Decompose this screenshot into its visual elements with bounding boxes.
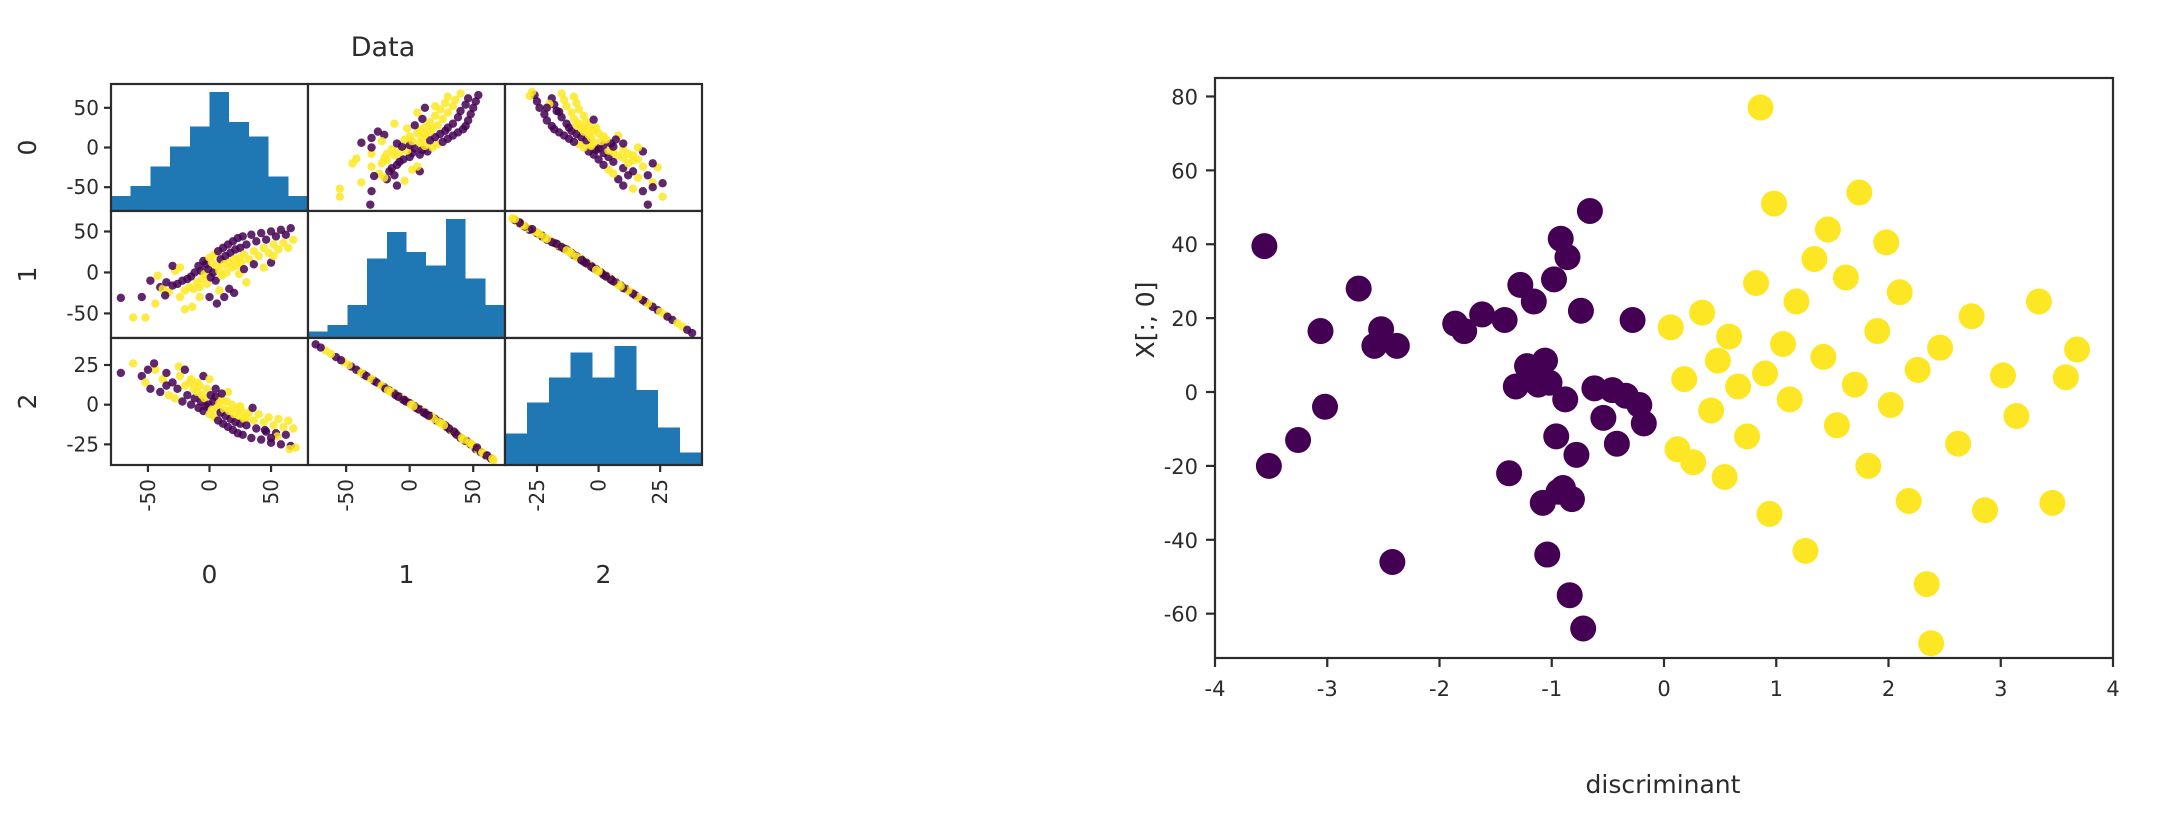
scatter-point xyxy=(344,361,352,369)
scatter-point xyxy=(367,162,375,170)
scatter-point xyxy=(1770,331,1796,357)
scatter-point xyxy=(1914,571,1940,597)
scatter-point xyxy=(543,104,551,112)
y-tick-label: 20 xyxy=(1171,307,1198,331)
scatter-point xyxy=(1256,453,1282,479)
y-tick-label: 25 xyxy=(74,353,99,377)
scatter-point xyxy=(129,313,137,321)
scatter-point xyxy=(658,179,666,187)
scatter-point xyxy=(649,159,657,167)
x-axis-title: discriminant xyxy=(1586,770,1741,799)
scatter-point xyxy=(1379,549,1405,575)
histogram-bar xyxy=(229,122,249,211)
matrix-cell-0-0 xyxy=(111,84,308,211)
scatter-point xyxy=(1469,301,1495,327)
scatter-point xyxy=(1918,630,1944,656)
scatter-point xyxy=(242,278,250,286)
histogram-bar xyxy=(485,305,505,338)
scatter-point xyxy=(1604,431,1630,457)
y-tick-label: 80 xyxy=(1171,85,1198,109)
scatter-point xyxy=(1590,405,1616,431)
scatter-point xyxy=(289,235,297,243)
scatter-point xyxy=(255,252,263,260)
scatter-point xyxy=(141,313,149,321)
histogram-bar xyxy=(170,147,190,211)
scatter-point xyxy=(138,293,146,301)
scatter-point xyxy=(1927,335,1953,361)
scatter-point xyxy=(117,294,125,302)
matrix-cell-1-2 xyxy=(505,211,702,338)
scatter-point xyxy=(1725,373,1751,399)
scatter-point xyxy=(1698,397,1724,423)
plot-background xyxy=(1215,78,2113,658)
scatter-point xyxy=(1532,348,1558,374)
scatter-point xyxy=(255,410,263,418)
scatter-point xyxy=(205,375,213,383)
scatter-point xyxy=(1783,289,1809,315)
scatter-point xyxy=(1712,464,1738,490)
scatter-point xyxy=(405,132,413,140)
scatter-point xyxy=(367,134,375,142)
x-tick-label: -4 xyxy=(1205,677,1226,701)
scatter-point xyxy=(236,402,244,410)
x-tick-label: -50 xyxy=(334,479,358,512)
scatter-point xyxy=(264,413,272,421)
scatter-point xyxy=(171,394,179,402)
x-tick-label: 3 xyxy=(1994,677,2007,701)
histogram-bar xyxy=(549,377,571,465)
row-label-0: 0 xyxy=(13,140,42,156)
scatter-point xyxy=(176,263,184,271)
histogram-bar xyxy=(150,166,170,211)
y-tick-label: 0 xyxy=(86,260,99,284)
scatter-point xyxy=(456,89,464,97)
scatter-point xyxy=(1716,324,1742,350)
scatter-point xyxy=(284,416,292,424)
scatter-point xyxy=(1842,372,1868,398)
scatter-point xyxy=(553,240,561,248)
y-tick-label: 50 xyxy=(74,219,99,243)
scatter-point xyxy=(261,426,269,434)
scatter-point xyxy=(144,366,152,374)
scatter-point xyxy=(440,421,448,429)
scatter-point xyxy=(317,343,325,351)
scatter-point xyxy=(1761,191,1787,217)
y-tick-label: 0 xyxy=(86,393,99,417)
matrix-cell-0-1 xyxy=(308,84,505,211)
scatter-point xyxy=(1846,180,1872,206)
x-tick-label: 0 xyxy=(1657,677,1670,701)
scatter-point xyxy=(267,434,275,442)
y-tick-label: -40 xyxy=(1164,529,1198,553)
scatter-point xyxy=(367,143,375,151)
x-tick-label: -50 xyxy=(136,479,160,512)
scatter-point xyxy=(1777,386,1803,412)
histogram-bar xyxy=(680,452,702,465)
histogram-bar xyxy=(527,402,549,465)
discriminant-svg: -4-3-2-101234806040200-20-40-60 discrimi… xyxy=(1060,0,2162,830)
scatter-point xyxy=(390,119,398,127)
scatter-point xyxy=(1801,246,1827,272)
scatter-point xyxy=(154,272,162,280)
scatter-point xyxy=(474,91,482,99)
scatter-point xyxy=(639,162,647,170)
scatter-point xyxy=(418,115,426,123)
x-tick-label: 0 xyxy=(398,479,422,492)
scatter-point xyxy=(1945,431,1971,457)
y-tick-label: 60 xyxy=(1171,159,1198,183)
discriminant-panel: -4-3-2-101234806040200-20-40-60 discrimi… xyxy=(1060,0,2162,830)
histogram-bar xyxy=(593,377,615,465)
matrix-cell-2-0 xyxy=(111,338,308,465)
scatter-point xyxy=(337,356,345,364)
scatter-point xyxy=(205,293,213,301)
scatter-point xyxy=(1705,348,1731,374)
scatter-point xyxy=(413,162,421,170)
scatter-point xyxy=(528,225,536,233)
scatter-point xyxy=(129,359,137,367)
y-tick-label: -20 xyxy=(1164,455,1198,479)
x-tick-label: 50 xyxy=(461,479,485,504)
x-tick-label: 2 xyxy=(1882,677,1895,701)
scatter-point xyxy=(1810,344,1836,370)
scatter-point xyxy=(1833,264,1859,290)
histogram-bar xyxy=(446,219,466,338)
scatter-point xyxy=(629,167,637,175)
scatter-point xyxy=(431,102,439,110)
scatter-point xyxy=(336,193,344,201)
scatter-point xyxy=(1543,423,1569,449)
scatter-point xyxy=(117,369,125,377)
scatter-point xyxy=(577,256,585,264)
scatter-point xyxy=(242,240,250,248)
scatter-point xyxy=(269,252,277,260)
histogram-bar xyxy=(111,196,131,211)
histogram-bar xyxy=(387,232,407,338)
scatter-point xyxy=(357,139,365,147)
scatter-point xyxy=(1855,453,1881,479)
scatter-point xyxy=(367,187,375,195)
scatter-point xyxy=(421,104,429,112)
scatter-point xyxy=(2064,337,2090,363)
scatter-point xyxy=(239,431,247,439)
scatter-point xyxy=(394,393,402,401)
scatter-point xyxy=(291,443,299,451)
x-tick-label: -25 xyxy=(525,479,549,512)
scatter-point xyxy=(195,293,203,301)
scatter-point xyxy=(411,121,419,129)
scatter-point xyxy=(683,326,691,334)
scatter-point xyxy=(1815,216,1841,242)
scatter-point xyxy=(2026,289,2052,315)
scatter-point xyxy=(488,454,496,462)
scatter-point xyxy=(1757,501,1783,527)
scatter-point xyxy=(277,440,285,448)
scatter-point xyxy=(259,263,267,271)
scatter-point xyxy=(465,439,473,447)
scatter-point xyxy=(2003,403,2029,429)
y-tick-label: -25 xyxy=(66,432,99,456)
scatter-point xyxy=(1541,266,1567,292)
scatter-point xyxy=(242,413,250,421)
scatter-point xyxy=(181,366,189,374)
scatter-point xyxy=(562,246,570,254)
scatter-point xyxy=(252,237,260,245)
scatter-point xyxy=(370,172,378,180)
scatter-point xyxy=(1824,412,1850,438)
y-tick-label: -60 xyxy=(1164,603,1198,627)
histogram-bar xyxy=(131,186,151,211)
scatter-point xyxy=(240,265,248,273)
scatter-point xyxy=(1346,276,1372,302)
scatter-point xyxy=(2039,490,2065,516)
scatter-point xyxy=(1972,497,1998,523)
scatter-point xyxy=(213,299,221,307)
y-axis-title: X[:, 0] xyxy=(1131,282,1160,359)
scatter-point xyxy=(1384,333,1410,359)
scatter-point xyxy=(1559,486,1585,512)
x-tick-label: -2 xyxy=(1429,677,1450,701)
scatter-point xyxy=(409,402,417,410)
scatter-point xyxy=(274,415,282,423)
scatter-point xyxy=(1990,362,2016,388)
scatter-point xyxy=(1743,270,1769,296)
scatter-point xyxy=(327,350,335,358)
scatter-point xyxy=(1620,307,1646,333)
scatter-point xyxy=(252,424,260,432)
scatter-point xyxy=(656,308,664,316)
scatter-point xyxy=(289,424,297,432)
scatter-point xyxy=(617,282,625,290)
histogram-bar xyxy=(249,137,269,211)
scatter-point xyxy=(1492,307,1518,333)
scatter-point xyxy=(612,135,620,143)
histogram-bar xyxy=(210,92,230,211)
scatter-point xyxy=(1905,357,1931,383)
scatter-point xyxy=(393,181,401,189)
scatter-point xyxy=(1285,427,1311,453)
scatter-point xyxy=(378,137,386,145)
histogram-bar xyxy=(505,434,527,465)
scatter-point xyxy=(282,431,290,439)
scatter-point xyxy=(225,285,233,293)
scatter-point xyxy=(649,183,657,191)
scatter-point xyxy=(1521,289,1547,315)
scatter-point xyxy=(1680,449,1706,475)
x-tick-label: 0 xyxy=(198,479,222,492)
scatter-point xyxy=(284,244,292,252)
scatter-point xyxy=(2053,364,2079,390)
scatter-point xyxy=(1554,244,1580,270)
scatter-point xyxy=(156,388,164,396)
scatter-point xyxy=(629,151,637,159)
scatter-point xyxy=(183,391,191,399)
scatter-point xyxy=(188,303,196,311)
scatter-point xyxy=(1752,361,1778,387)
scatter-point xyxy=(239,232,247,240)
scatter-point xyxy=(425,412,433,420)
col-label-0: 0 xyxy=(202,560,218,589)
scatter-point xyxy=(644,200,652,208)
histogram-bar xyxy=(658,427,680,465)
scatter-point xyxy=(535,230,543,238)
scatter-point xyxy=(262,235,270,243)
scatter-point xyxy=(287,224,295,232)
scatter-point xyxy=(658,193,666,201)
scatter-point xyxy=(173,385,181,393)
scatter-point xyxy=(151,299,159,307)
histogram-bar xyxy=(407,252,427,338)
scatter-point xyxy=(592,266,600,274)
x-tick-label: 0 xyxy=(587,479,611,492)
matrix-cell-2-1 xyxy=(308,338,505,465)
scatter-point xyxy=(1568,298,1594,324)
scatter-point xyxy=(1251,233,1277,259)
scatter-point xyxy=(1563,442,1589,468)
scatter-point xyxy=(403,124,411,132)
scatter-point xyxy=(146,385,154,393)
scatter-point xyxy=(663,313,671,321)
scatter-point xyxy=(250,260,258,268)
scatter-point xyxy=(161,291,169,299)
scatter-point xyxy=(1864,318,1890,344)
matrix-cell-1-0 xyxy=(111,211,308,338)
x-tick-label: -1 xyxy=(1541,677,1562,701)
scatter-point xyxy=(247,434,255,442)
x-tick-label: 25 xyxy=(648,479,672,504)
scatter-point xyxy=(366,200,374,208)
scatter-point xyxy=(450,427,458,435)
matrix-cell-2-2 xyxy=(505,338,702,465)
scatter-point xyxy=(242,421,250,429)
scatter-point xyxy=(1896,488,1922,514)
scatter-point xyxy=(607,276,615,284)
matrix-cell-1-1 xyxy=(308,211,505,338)
scatter-point xyxy=(570,93,578,101)
row-label-2: 2 xyxy=(13,394,42,410)
scatter-point xyxy=(629,185,637,193)
histogram-bar xyxy=(614,346,636,465)
scatter-point xyxy=(1308,318,1334,344)
scatter-point xyxy=(400,177,408,185)
histogram-bar xyxy=(347,305,367,338)
scatter-point xyxy=(592,123,600,131)
histogram-bar xyxy=(269,176,289,211)
histogram-bar xyxy=(328,325,348,338)
scatter-point xyxy=(1959,303,1985,329)
col-label-2: 2 xyxy=(596,560,612,589)
scatter-point xyxy=(1534,542,1560,568)
scatter-point xyxy=(1577,198,1603,224)
scatter-point xyxy=(181,305,189,313)
scatter-point xyxy=(162,369,170,377)
scatter-matrix-svg: Data -500500-500501-250252-500500-500501… xyxy=(0,0,1060,830)
scatter-point xyxy=(1552,386,1578,412)
scatter-point xyxy=(1734,423,1760,449)
histogram-bar xyxy=(190,127,210,211)
scatter-point xyxy=(444,93,452,101)
figure-canvas: Data -500500-500501-250252-500500-500501… xyxy=(0,0,2162,830)
x-tick-label: 1 xyxy=(1770,677,1783,701)
scatter-point xyxy=(634,143,642,151)
scatter-point xyxy=(215,286,223,294)
scatter-point xyxy=(464,94,472,102)
histogram-bar xyxy=(466,279,486,339)
col-label-1: 1 xyxy=(399,560,415,589)
y-tick-label: 50 xyxy=(74,96,99,120)
scatter-point xyxy=(1748,95,1774,121)
scatter-point xyxy=(1557,582,1583,608)
scatter-point xyxy=(193,378,201,386)
histogram-bar xyxy=(571,352,593,465)
scatter-point xyxy=(557,89,565,97)
scatter-point xyxy=(1631,410,1657,436)
scatter-point xyxy=(589,116,597,124)
scatter-point xyxy=(1792,538,1818,564)
scatter-point xyxy=(1570,615,1596,641)
x-tick-label: 50 xyxy=(259,479,283,504)
panel-title: Data xyxy=(351,32,415,63)
scatter-point xyxy=(673,319,681,327)
histogram-bar xyxy=(636,390,658,465)
scatter-matrix-panel: Data -500500-500501-250252-500500-500501… xyxy=(0,0,1060,830)
scatter-point xyxy=(384,386,392,394)
scatter-point xyxy=(575,119,583,127)
scatter-point xyxy=(1496,460,1522,486)
scatter-point xyxy=(1312,394,1338,420)
scatter-point xyxy=(168,262,176,270)
scatter-point xyxy=(1887,279,1913,305)
x-tick-label: -3 xyxy=(1317,677,1338,701)
histogram-bar xyxy=(367,259,387,338)
scatter-point xyxy=(511,215,519,223)
histogram-bar xyxy=(288,196,308,211)
y-tick-label: -50 xyxy=(66,301,99,325)
scatter-point xyxy=(1671,366,1697,392)
scatter-point xyxy=(257,435,265,443)
scatter-point xyxy=(393,139,401,147)
scatter-point xyxy=(1689,300,1715,326)
scatter-point xyxy=(1878,392,1904,418)
y-tick-label: 0 xyxy=(86,136,99,160)
scatter-point xyxy=(357,178,365,186)
scatter-point xyxy=(195,283,203,291)
scatter-point xyxy=(1873,229,1899,255)
scatter-point xyxy=(619,139,627,147)
scatter-point xyxy=(218,389,226,397)
scatter-point xyxy=(146,276,154,284)
scatter-point xyxy=(528,88,536,96)
scatter-point xyxy=(336,185,344,193)
row-label-1: 1 xyxy=(13,267,42,283)
scatter-point xyxy=(248,404,256,412)
y-tick-label: 0 xyxy=(1185,381,1198,405)
scatter-point xyxy=(348,159,356,167)
y-tick-label: -50 xyxy=(66,175,99,199)
histogram-bar xyxy=(426,265,446,338)
scatter-point xyxy=(644,171,652,179)
x-tick-label: 4 xyxy=(2106,677,2119,701)
scatter-point xyxy=(639,187,647,195)
scatter-point xyxy=(1658,314,1684,340)
scatter-point xyxy=(150,359,158,367)
y-tick-label: 40 xyxy=(1171,233,1198,257)
matrix-cell-0-2 xyxy=(505,84,702,211)
scatter-point xyxy=(555,108,563,116)
